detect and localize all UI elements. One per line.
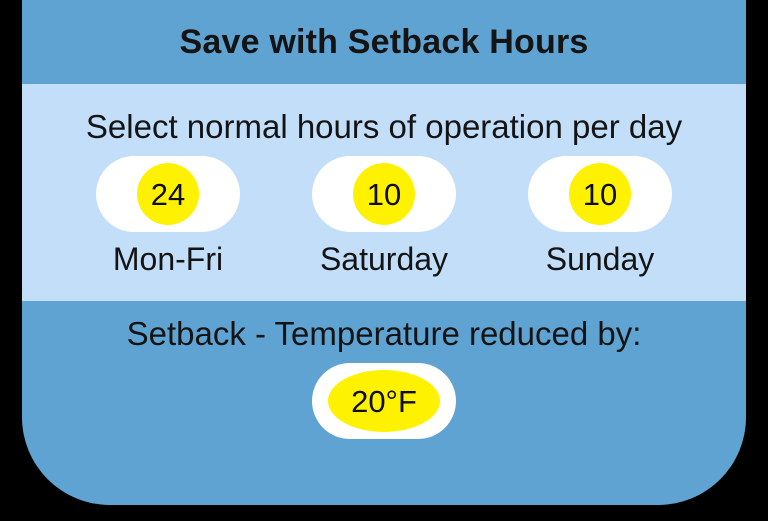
hours-value-badge: 24: [137, 163, 199, 225]
hours-stepper-sunday[interactable]: 10: [528, 156, 672, 232]
day-selector-saturday[interactable]: 10 Saturday: [312, 156, 456, 278]
day-label: Sunday: [546, 241, 655, 278]
setback-hours-card: Save with Setback Hours Select normal ho…: [22, 0, 746, 505]
hours-stepper-saturday[interactable]: 10: [312, 156, 456, 232]
setback-temperature-stepper[interactable]: 20°F: [312, 363, 456, 439]
hours-value-text: 10: [367, 179, 401, 210]
hours-value-badge: 10: [569, 163, 631, 225]
page-title: Save with Setback Hours: [180, 23, 589, 62]
setback-temperature-text: 20°F: [351, 386, 417, 417]
card-header: Save with Setback Hours: [22, 0, 746, 84]
setback-prompt: Setback - Temperature reduced by:: [22, 315, 746, 353]
hours-value-text: 24: [151, 179, 185, 210]
hours-value-text: 10: [583, 179, 617, 210]
day-label: Saturday: [320, 241, 448, 278]
hours-value-badge: 10: [353, 163, 415, 225]
day-selector-row: 24 Mon-Fri 10 Saturday: [22, 156, 746, 278]
setback-panel: Setback - Temperature reduced by: 20°F: [22, 301, 746, 505]
day-selector-mon-fri[interactable]: 24 Mon-Fri: [96, 156, 240, 278]
normal-hours-panel: Select normal hours of operation per day…: [22, 84, 746, 301]
setback-temperature-row: 20°F: [22, 363, 746, 439]
screen-backdrop: Save with Setback Hours Select normal ho…: [0, 0, 768, 521]
day-label: Mon-Fri: [113, 241, 223, 278]
setback-temperature-badge: 20°F: [328, 370, 440, 432]
day-selector-sunday[interactable]: 10 Sunday: [528, 156, 672, 278]
hours-stepper-mon-fri[interactable]: 24: [96, 156, 240, 232]
normal-hours-prompt: Select normal hours of operation per day: [22, 108, 746, 146]
